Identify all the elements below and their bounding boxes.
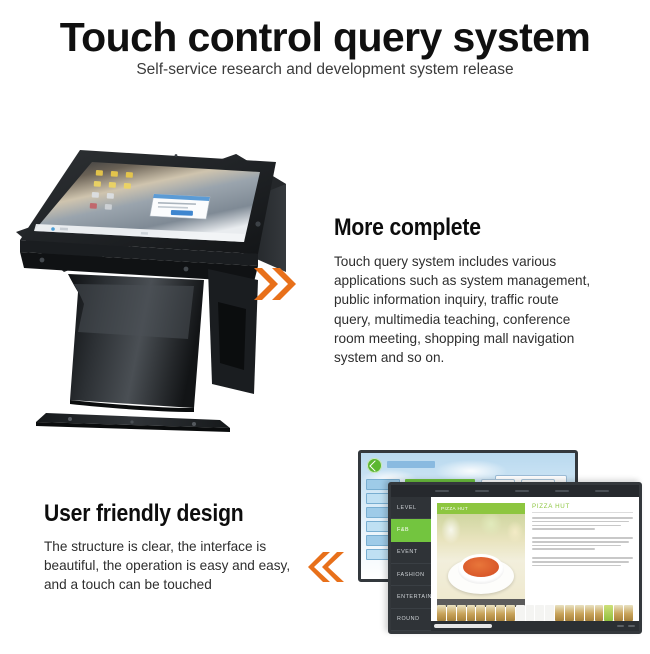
- topbar-item[interactable]: [475, 490, 489, 493]
- front-screen-sidebar: LEVEL F&B EVENT FASHION ENTERTAINMENT RO…: [391, 497, 431, 631]
- content-inner: PIZZA HUT Bowl of tomato soup on a white…: [437, 503, 633, 607]
- feature-heading-more-complete: More complete: [334, 214, 563, 242]
- front-screen-bottombar: [431, 621, 639, 631]
- sidebar-item-fashion[interactable]: FASHION: [391, 564, 431, 586]
- topbar-item[interactable]: [595, 490, 609, 493]
- thumbnail-item[interactable]: [447, 605, 456, 621]
- sidebar-item-label: FASHION: [397, 572, 425, 578]
- thumbnail-item[interactable]: [516, 605, 525, 621]
- feature-heading-user-friendly-design: User friendly design: [44, 500, 262, 528]
- thumbnail-item[interactable]: [595, 605, 604, 621]
- front-screen-topbar: [391, 485, 639, 497]
- thumbnail-item[interactable]: [535, 605, 544, 621]
- sidebar-item-label: ROUND: [397, 616, 420, 622]
- topbar-item[interactable]: [515, 490, 529, 493]
- share-icon[interactable]: [367, 458, 382, 473]
- sidebar-item-event[interactable]: EVENT: [391, 542, 431, 564]
- soup-shape: [463, 557, 499, 577]
- sidebar-item-label: F&B: [397, 527, 409, 533]
- detail-paragraph: [532, 537, 633, 552]
- thumbnail-item[interactable]: [496, 605, 505, 621]
- divider: [532, 512, 633, 513]
- thumbnail-item[interactable]: [457, 605, 466, 621]
- sidebar-item-entertainment[interactable]: ENTERTAINMENT: [391, 586, 431, 608]
- thumbnail-item[interactable]: [506, 605, 515, 621]
- page-title: Touch control query system: [0, 14, 650, 60]
- feature-body-more-complete: Touch query system includes various appl…: [334, 252, 594, 367]
- glassware-decoration: [437, 514, 525, 550]
- chevron-double-left-icon: [306, 550, 346, 584]
- thumbnail-item[interactable]: [614, 605, 623, 621]
- thumbnail-item[interactable]: [486, 605, 495, 621]
- front-screen-content: PIZZA HUT Bowl of tomato soup on a white…: [431, 497, 639, 631]
- food-card-title: PIZZA HUT: [437, 503, 525, 514]
- chevron-double-right-icon: [252, 266, 296, 302]
- food-card: PIZZA HUT Bowl of tomato soup on a white…: [437, 503, 525, 607]
- sidebar-item-label: EVENT: [397, 549, 418, 555]
- ui-screens-photo: Two overlapping touch interface screens …: [358, 450, 650, 650]
- page-subtitle: Self-service research and development sy…: [0, 60, 650, 80]
- back-screen-wordmark: [387, 461, 435, 468]
- topbar-item[interactable]: [555, 490, 569, 493]
- feature-body-user-friendly-design: The structure is clear, the interface is…: [44, 537, 292, 595]
- brand-title: PIZZA HUT: [532, 503, 633, 510]
- bottombar-action[interactable]: [617, 625, 624, 627]
- sidebar-item-round[interactable]: ROUND: [391, 609, 431, 631]
- topbar-item[interactable]: [435, 490, 449, 493]
- horizontal-scrollbar[interactable]: [434, 624, 492, 628]
- bottombar-action[interactable]: [628, 625, 635, 627]
- thumbnail-item[interactable]: [476, 605, 485, 621]
- sidebar-item-label: LEVEL: [397, 505, 417, 511]
- page-root: Touch control query system Self-service …: [0, 0, 650, 654]
- thumbnail-item[interactable]: [604, 605, 613, 621]
- thumbnail-item[interactable]: [555, 605, 564, 621]
- sidebar-item-level[interactable]: LEVEL: [391, 497, 431, 519]
- detail-paragraph: [532, 557, 633, 568]
- bottombar-actions: [617, 625, 635, 627]
- thumbnail-strip[interactable]: [437, 605, 633, 621]
- feature-block-more-complete: More complete Touch query system include…: [334, 214, 594, 367]
- detail-paragraph: [532, 517, 633, 532]
- thumbnail-item[interactable]: [565, 605, 574, 621]
- detail-text-column: PIZZA HUT: [532, 503, 633, 607]
- front-screen: LEVEL F&B EVENT FASHION ENTERTAINMENT RO…: [388, 482, 642, 634]
- thumbnail-item[interactable]: [545, 605, 554, 621]
- food-photo: Bowl of tomato soup on a white saucer: [437, 514, 525, 599]
- sidebar-item-fnb[interactable]: F&B: [391, 519, 431, 541]
- thumbnail-item[interactable]: [575, 605, 584, 621]
- thumbnail-item[interactable]: [467, 605, 476, 621]
- feature-block-user-friendly-design: User friendly design The structure is cl…: [44, 500, 292, 595]
- thumbnail-item[interactable]: [526, 605, 535, 621]
- thumbnail-item[interactable]: [624, 605, 633, 621]
- thumbnail-item[interactable]: [585, 605, 594, 621]
- thumbnail-item[interactable]: [437, 605, 446, 621]
